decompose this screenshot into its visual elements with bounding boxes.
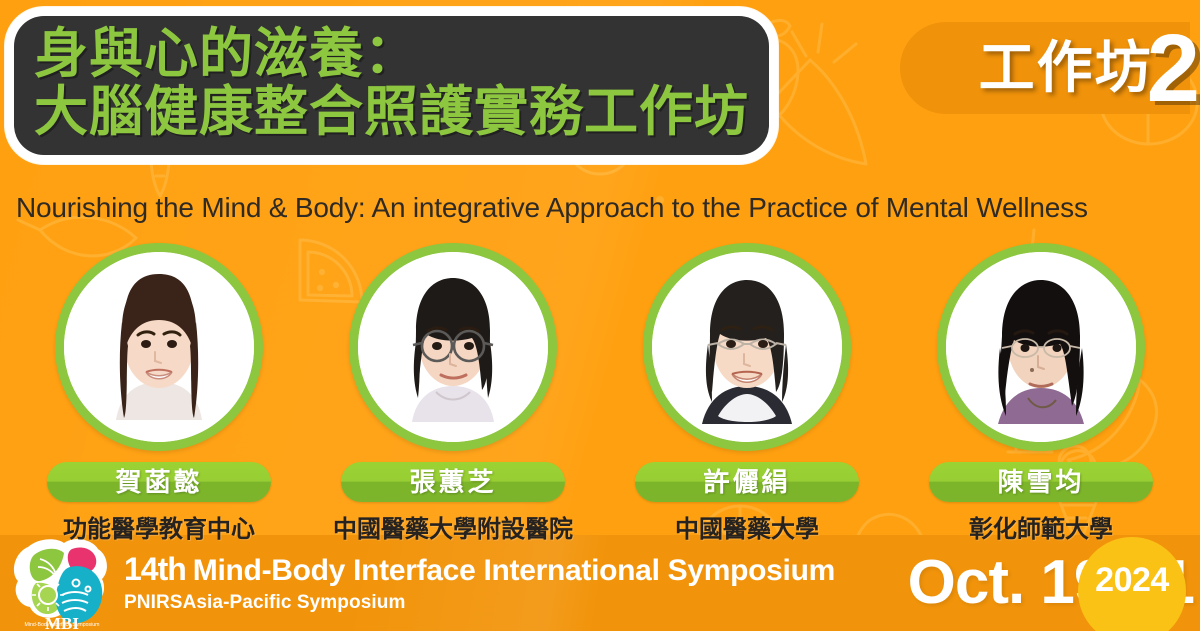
headline-panel: 身與心的滋養： 大腦健康整合照護實務工作坊 [14, 16, 769, 155]
speaker-row: 賀菡懿 功能醫學教育中心 [0, 243, 1200, 544]
portrait-ring [55, 243, 263, 451]
workshop-badge: 工作坊 2 [961, 22, 1200, 114]
symposium-title-block: 14th Mind-Body Interface International S… [124, 552, 835, 614]
speaker-card: 許儷絹 中國醫藥大學 [611, 243, 883, 544]
headline-line-2: 大腦健康整合照護實務工作坊 [34, 83, 749, 141]
speaker-nameplate: 賀菡懿 [47, 462, 271, 502]
portrait-ring [643, 243, 851, 451]
headline-line-1: 身與心的滋養： [34, 25, 749, 83]
speaker-nameplate: 許儷絹 [635, 462, 859, 502]
workshop-badge-number: 2 [1147, 26, 1200, 112]
speaker-name: 賀菡懿 [115, 469, 202, 495]
workshop-badge-label: 工作坊 [979, 40, 1153, 96]
speaker-card: 賀菡懿 功能醫學教育中心 [23, 243, 295, 544]
portrait-ring [349, 243, 557, 451]
symposium-title-line: 14th Mind-Body Interface International S… [124, 552, 835, 587]
speaker-card: 張蕙芝 中國醫藥大學附設醫院 [317, 243, 589, 544]
speaker-name: 張蕙芝 [409, 469, 496, 495]
speaker-portrait-2 [358, 252, 548, 442]
speaker-affiliation: 中國醫藥大學 [675, 509, 819, 544]
speaker-nameplate: 張蕙芝 [341, 462, 565, 502]
speaker-portrait-4 [946, 252, 1136, 442]
english-subtitle: Nourishing the Mind & Body: An integrati… [16, 192, 1191, 224]
speaker-name: 陳雪均 [997, 469, 1084, 495]
headline-block: 身與心的滋養： 大腦健康整合照護實務工作坊 [14, 16, 769, 155]
speaker-affiliation: 功能醫學教育中心 [63, 509, 255, 544]
mbi-logo-tagline: Mind-Body Interface Symposium [25, 622, 100, 628]
event-year: 2024 [1095, 563, 1169, 597]
speaker-nameplate: 陳雪均 [929, 462, 1153, 502]
speaker-affiliation: 中國醫藥大學附設醫院 [333, 509, 573, 544]
symposium-title: Mind-Body Interface International Sympos… [193, 554, 835, 587]
speaker-affiliation: 彰化師範大學 [969, 509, 1113, 544]
workshop-promo-banner: 身與心的滋養： 大腦健康整合照護實務工作坊 工作坊 2 Nourishing t… [0, 0, 1200, 631]
speaker-card: 陳雪均 彰化師範大學 [905, 243, 1177, 544]
speaker-portrait-1 [64, 252, 254, 442]
symposium-subtitle: PNIRSAsia-Pacific Symposium [124, 592, 835, 614]
symposium-edition: 14th [124, 552, 186, 587]
mbi-logo: MBI Mind-Body Interface Symposium [10, 537, 114, 629]
speaker-portrait-3 [652, 252, 842, 442]
speaker-name: 許儷絹 [703, 469, 790, 495]
footer-bar: MBI Mind-Body Interface Symposium 14th M… [0, 535, 1200, 631]
portrait-ring [937, 243, 1145, 451]
